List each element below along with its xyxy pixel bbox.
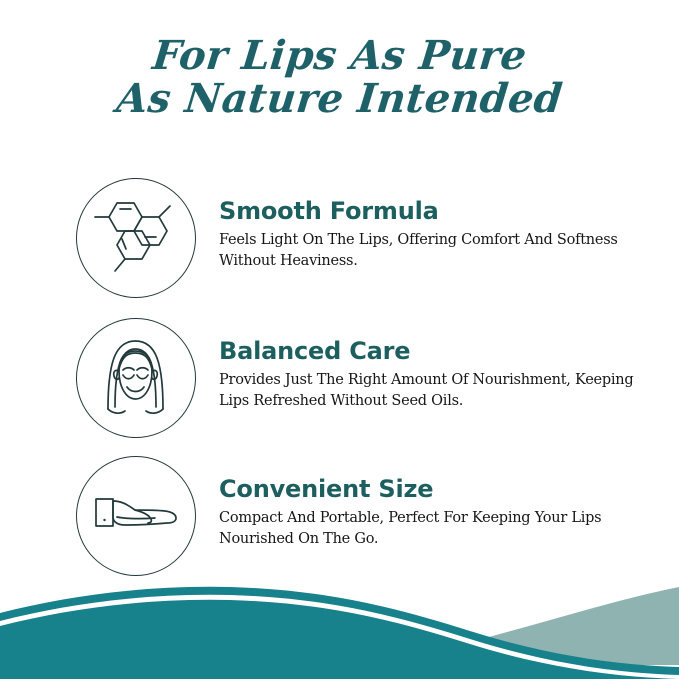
feature-title: Balanced Care: [219, 338, 649, 364]
bottom-wave-decoration: [0, 569, 679, 679]
feature-title: Convenient Size: [219, 476, 649, 502]
feature-title: Smooth Formula: [219, 198, 649, 224]
feature-description: Compact And Portable, Perfect For Keepin…: [219, 508, 649, 549]
infographic-panel: For Lips As Pure As Nature Intended: [0, 0, 679, 679]
feature-text-block: Smooth Formula Feels Light On The Lips, …: [219, 198, 649, 272]
page-title-line-1: For Lips As Pure: [0, 36, 679, 77]
feature-text-block: Balanced Care Provides Just The Right Am…: [219, 338, 649, 412]
molecule-icon: [76, 178, 196, 298]
feature-description: Feels Light On The Lips, Offering Comfor…: [219, 230, 649, 271]
feature-description: Provides Just The Right Amount Of Nouris…: [219, 370, 649, 411]
open-hand-icon: [76, 456, 196, 576]
face-icon: [76, 318, 196, 438]
page-title: For Lips As Pure As Nature Intended: [0, 36, 679, 120]
feature-item-smooth-formula: Smooth Formula Feels Light On The Lips, …: [0, 178, 679, 306]
page-title-line-2: As Nature Intended: [0, 79, 679, 120]
feature-text-block: Convenient Size Compact And Portable, Pe…: [219, 476, 649, 550]
feature-item-convenient-size: Convenient Size Compact And Portable, Pe…: [0, 456, 679, 584]
feature-item-balanced-care: Balanced Care Provides Just The Right Am…: [0, 318, 679, 446]
